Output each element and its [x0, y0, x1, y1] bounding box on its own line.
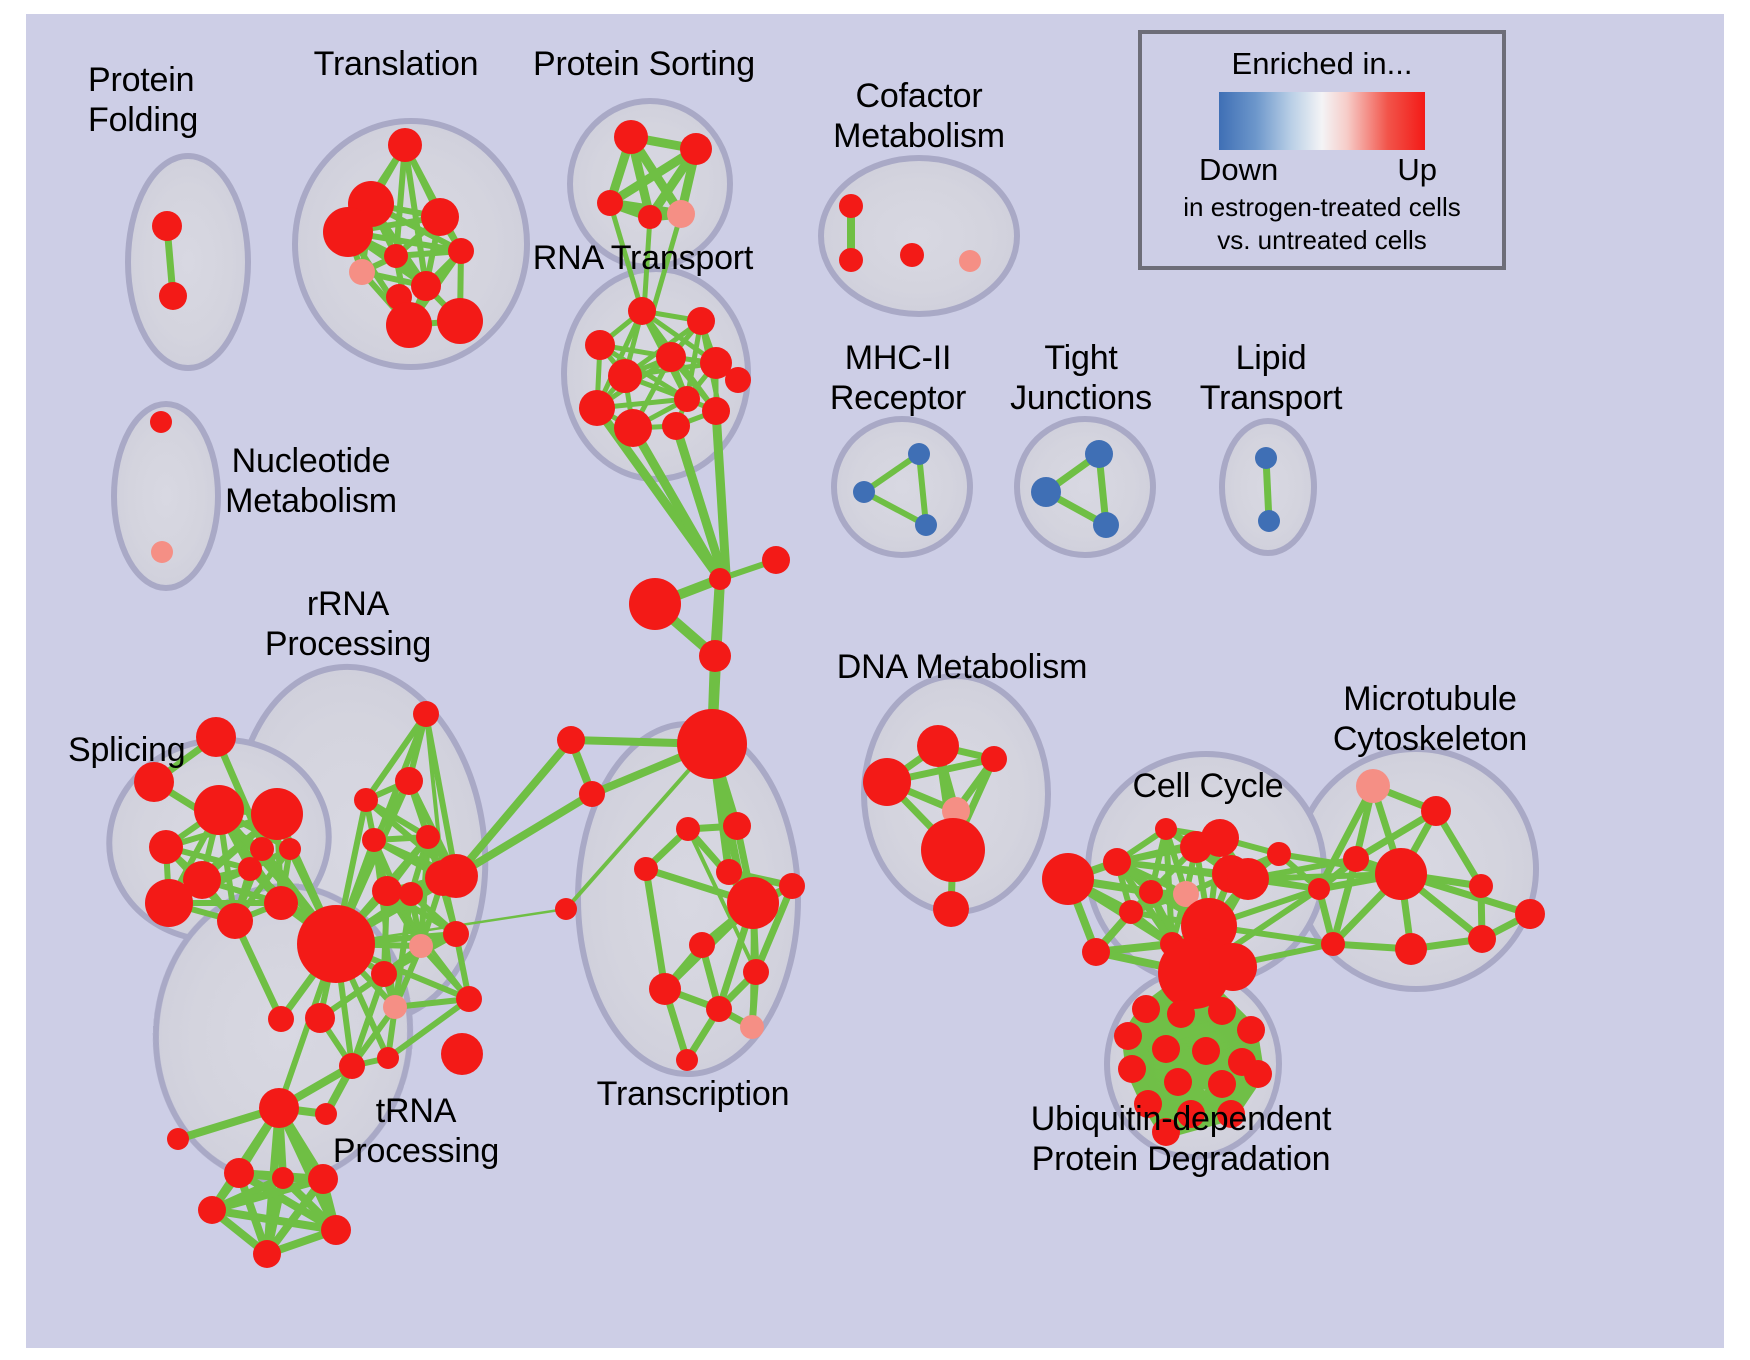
legend-down-label: Down [1199, 152, 1278, 188]
node [1152, 1035, 1180, 1063]
node [349, 259, 375, 285]
legend-up-label: Up [1397, 152, 1437, 188]
node [1356, 769, 1390, 803]
node [1208, 997, 1236, 1025]
node [597, 190, 623, 216]
node [145, 879, 193, 927]
node [1469, 874, 1493, 898]
legend-color-gradient [1219, 92, 1425, 150]
cluster-label-microtubule-cytoskeleton: Microtubule Cytoskeleton [1333, 679, 1527, 759]
node [1118, 1055, 1146, 1083]
cluster-label-nucleotide-metabolism: Nucleotide Metabolism [225, 441, 397, 521]
cluster-label-transcription: Transcription [597, 1074, 790, 1114]
node [297, 905, 375, 983]
node [779, 873, 805, 899]
node [1103, 848, 1131, 876]
node [456, 986, 482, 1012]
node [1227, 858, 1269, 900]
node [709, 568, 731, 590]
node [149, 830, 183, 864]
node [649, 973, 681, 1005]
node [740, 1015, 764, 1039]
node [1139, 880, 1163, 904]
node [1321, 932, 1345, 956]
node [915, 514, 937, 536]
node [152, 211, 182, 241]
halo-protein-folding [128, 156, 248, 368]
node [699, 640, 731, 672]
node [1375, 848, 1427, 900]
node [224, 1158, 254, 1188]
node [629, 578, 681, 630]
node [634, 857, 658, 881]
node [614, 120, 648, 154]
legend-caption-line2: vs. untreated cells [1142, 225, 1502, 256]
node [251, 788, 303, 840]
node [371, 961, 397, 987]
node [362, 828, 386, 852]
node [1082, 938, 1110, 966]
node [557, 726, 585, 754]
cluster-label-cell-cycle: Cell Cycle [1132, 766, 1283, 806]
node [656, 342, 686, 372]
cluster-label-cofactor-metabolism: Cofactor Metabolism [833, 76, 1005, 156]
node [723, 812, 751, 840]
node [1468, 925, 1496, 953]
node [395, 767, 423, 795]
node [725, 367, 751, 393]
node [339, 1053, 365, 1079]
node [1132, 995, 1160, 1023]
node [399, 882, 423, 906]
node [628, 297, 656, 325]
node [614, 409, 652, 447]
node [416, 825, 440, 849]
node [706, 996, 732, 1022]
node [1237, 1016, 1265, 1044]
node [1515, 899, 1545, 929]
node [933, 891, 969, 927]
node [762, 546, 790, 574]
node [702, 397, 730, 425]
cluster-label-trna-processing: tRNA Processing [333, 1091, 499, 1171]
cluster-label-tight-junctions: Tight Junctions [1010, 338, 1152, 418]
cluster-label-rrna-processing: rRNA Processing [265, 584, 431, 664]
node [259, 1088, 299, 1128]
node [676, 1049, 698, 1071]
cluster-label-rna-transport: RNA Transport [533, 238, 753, 278]
node [839, 194, 863, 218]
node [372, 876, 402, 906]
node [677, 709, 747, 779]
node [1167, 1000, 1195, 1028]
node [150, 411, 172, 433]
cluster-label-protein-sorting: Protein Sorting [533, 44, 755, 84]
node [1244, 1060, 1272, 1088]
node [238, 857, 262, 881]
node [413, 701, 439, 727]
node [667, 200, 695, 228]
node [687, 307, 715, 335]
node [608, 359, 642, 393]
node [384, 244, 408, 268]
node [1119, 900, 1143, 924]
node [853, 481, 875, 503]
node [921, 818, 985, 882]
node [680, 133, 712, 165]
node [448, 238, 474, 264]
node [279, 838, 301, 860]
node [1421, 796, 1451, 826]
node [377, 1047, 399, 1069]
node [443, 921, 469, 947]
cluster-label-dna-metabolism: DNA Metabolism [837, 647, 1087, 687]
node [437, 298, 483, 344]
node [1192, 1037, 1220, 1065]
node [1164, 1068, 1192, 1096]
node [386, 302, 432, 348]
node [1208, 1070, 1236, 1098]
cluster-label-lipid-transport: Lipid Transport [1200, 338, 1342, 418]
legend-caption-line1: in estrogen-treated cells [1142, 192, 1502, 223]
node [1201, 819, 1239, 857]
node [253, 1240, 281, 1268]
node [196, 717, 236, 757]
node [579, 390, 615, 426]
node [662, 412, 690, 440]
node [323, 207, 373, 257]
node [151, 541, 173, 563]
node [264, 886, 298, 920]
node [409, 934, 433, 958]
node [727, 877, 779, 929]
node [1042, 853, 1094, 905]
figure-canvas: Protein Folding Translation Protein Sort… [0, 0, 1750, 1360]
node [981, 746, 1007, 772]
cluster-label-protein-folding: Protein Folding [88, 60, 198, 140]
legend-box: Enriched in... Down Up in estrogen-treat… [1138, 30, 1506, 270]
node [1258, 510, 1280, 532]
node [321, 1215, 351, 1245]
node [959, 250, 981, 272]
node [917, 725, 959, 767]
node [388, 128, 422, 162]
node [217, 903, 253, 939]
node [908, 443, 930, 465]
node [1343, 846, 1369, 872]
node [638, 205, 662, 229]
node [250, 837, 274, 861]
node [441, 1033, 483, 1075]
node [689, 932, 715, 958]
node [421, 198, 459, 236]
node [585, 330, 615, 360]
node [743, 959, 769, 985]
node [1031, 477, 1061, 507]
cluster-label-ubiquitin: Ubiquitin-dependent Protein Degradation [1031, 1099, 1332, 1179]
node [863, 758, 911, 806]
cluster-label-splicing: Splicing [68, 730, 185, 770]
legend-endpoints: Down Up [1199, 152, 1445, 190]
node [194, 785, 244, 835]
node [159, 282, 187, 310]
node [1255, 447, 1277, 469]
node [198, 1196, 226, 1224]
cluster-label-mhc-ii-receptor: MHC-II Receptor [830, 338, 966, 418]
node [425, 860, 461, 896]
node [167, 1128, 189, 1150]
node [1155, 818, 1177, 840]
node [674, 386, 700, 412]
node [579, 781, 605, 807]
node [555, 898, 577, 920]
node [676, 817, 700, 841]
node [268, 1006, 294, 1032]
cluster-label-translation: Translation [314, 44, 479, 84]
node [411, 271, 441, 301]
node [354, 788, 378, 812]
node [272, 1167, 294, 1189]
node [1395, 933, 1427, 965]
legend-title: Enriched in... [1142, 46, 1502, 82]
node [1308, 878, 1330, 900]
node [1114, 1022, 1142, 1050]
node [900, 243, 924, 267]
node [305, 1003, 335, 1033]
node [1085, 440, 1113, 468]
node [1209, 943, 1257, 991]
network-map: Protein Folding Translation Protein Sort… [26, 14, 1724, 1348]
node [1093, 512, 1119, 538]
node [839, 248, 863, 272]
node [716, 859, 742, 885]
node [1267, 842, 1291, 866]
node [383, 995, 407, 1019]
